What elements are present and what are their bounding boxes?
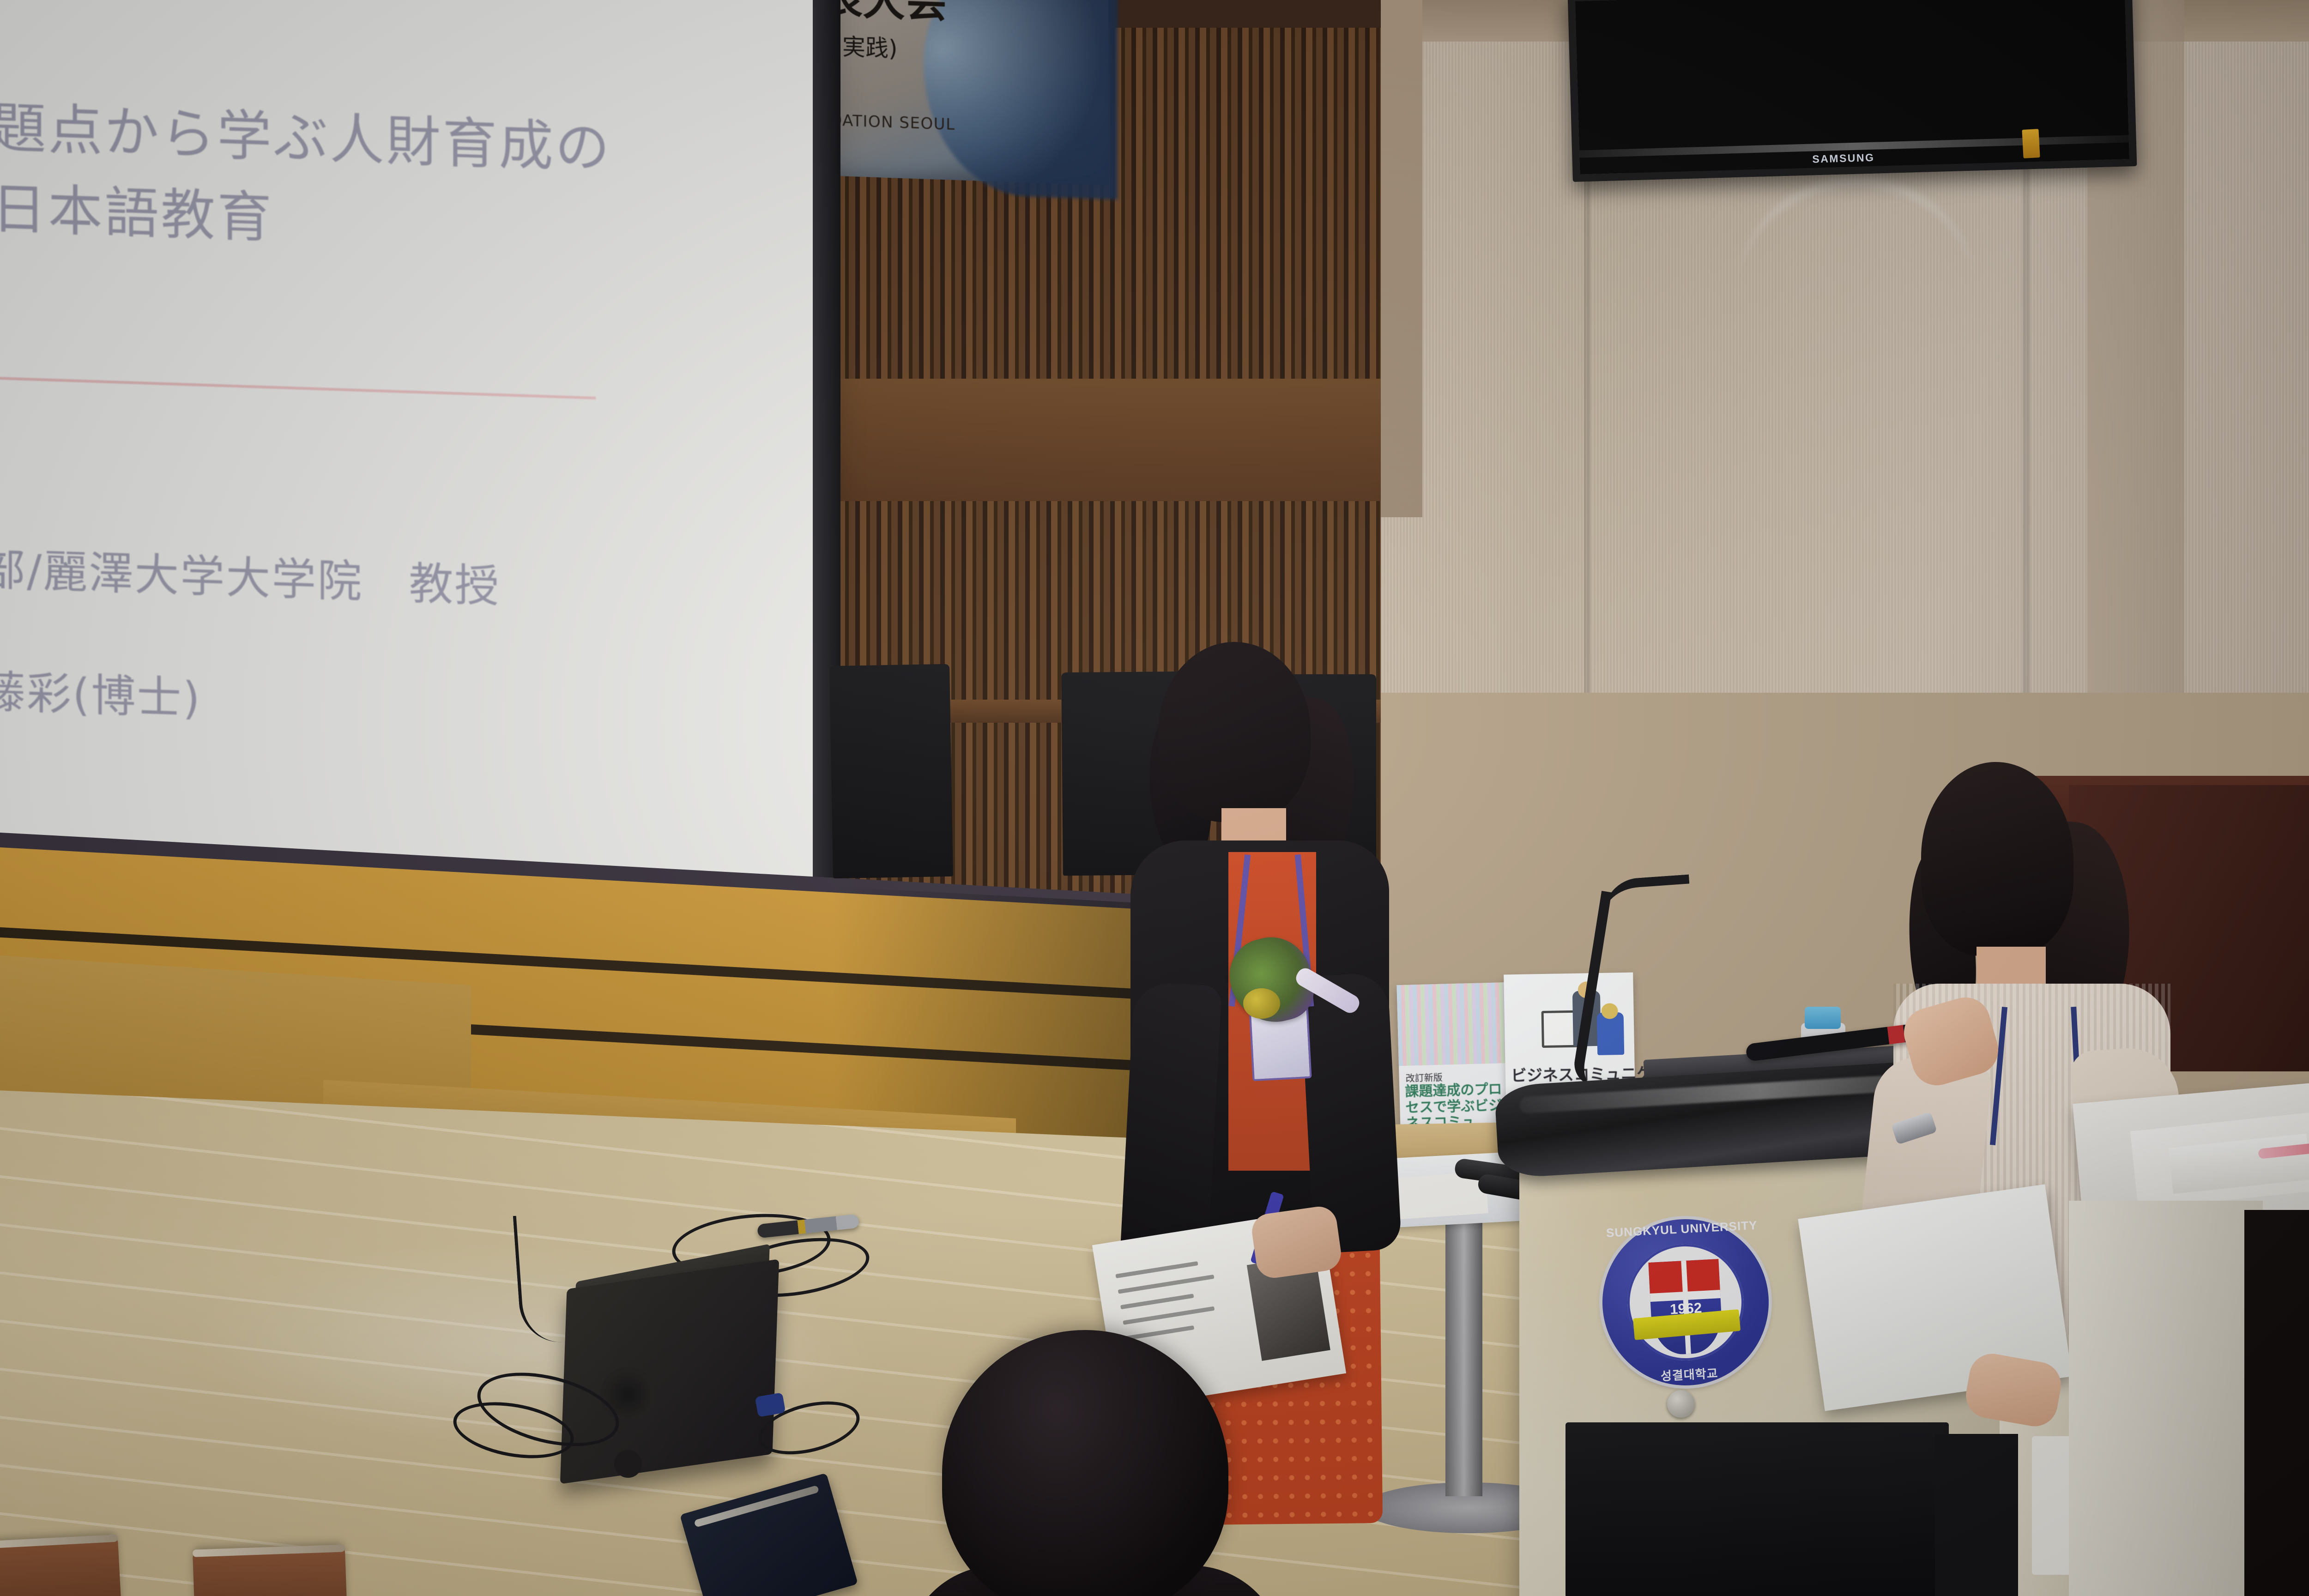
stage-monitor-speaker (560, 1259, 779, 1484)
audience-chair-back[interactable] (193, 1544, 348, 1596)
podium-connector-plate[interactable] (2032, 1436, 2073, 1575)
wall-seam (1584, 157, 1590, 693)
speaker-tweeter (614, 1450, 642, 1478)
slide-presenter-name: 近藤彩(博士) (0, 654, 201, 727)
event-banner: 表大会 の実践) NDATION SEOUL (804, 0, 1108, 186)
stage-chair (829, 664, 953, 878)
water-bottle-cap[interactable] (1805, 1007, 1841, 1029)
presenter-hands (1250, 1204, 1343, 1280)
slide-title-line-2: の日本語教育 (0, 162, 273, 252)
emblem-founding-year: 1962 (1657, 1299, 1715, 1318)
corsage-gold-berries (1243, 988, 1280, 1019)
podium-recess (1935, 1434, 2018, 1596)
slat-divider-band (785, 379, 1381, 501)
av-cabinet-front (2069, 1201, 2263, 1596)
projection-screen: 問題点から学ぶ人財育成の の日本語教育 学部/麗澤大学大学院 教授 近藤彩(博士… (0, 0, 840, 966)
moderator-hair-top (1921, 762, 2073, 956)
podium-front-panel (1566, 1422, 1949, 1596)
tv-cable-tag (2022, 129, 2040, 158)
podium-control-knob[interactable] (1667, 1390, 1695, 1418)
tv-brand-label: SAMSUNG (1812, 151, 1875, 166)
wall-mounted-television: SAMSUNG (1568, 0, 2137, 182)
university-emblem: 1962 SUNGKYUL UNIVERSITY 성결대학교 (1598, 1215, 1773, 1390)
presenter-hair-top (1158, 642, 1311, 822)
slide-divider-rule (0, 375, 596, 399)
av-cabinet-opening (2244, 1210, 2309, 1596)
slide-affiliation-line: 学部/麗澤大学大学院 教授 (0, 532, 500, 615)
audience-chair-back[interactable] (0, 1535, 122, 1596)
lecture-hall-photo: SAMSUNG 表大会 の実践) NDATION SEOUL 問題点から学ぶ人財… (0, 0, 2309, 1596)
banner-swoosh-graphic (924, 0, 1118, 199)
